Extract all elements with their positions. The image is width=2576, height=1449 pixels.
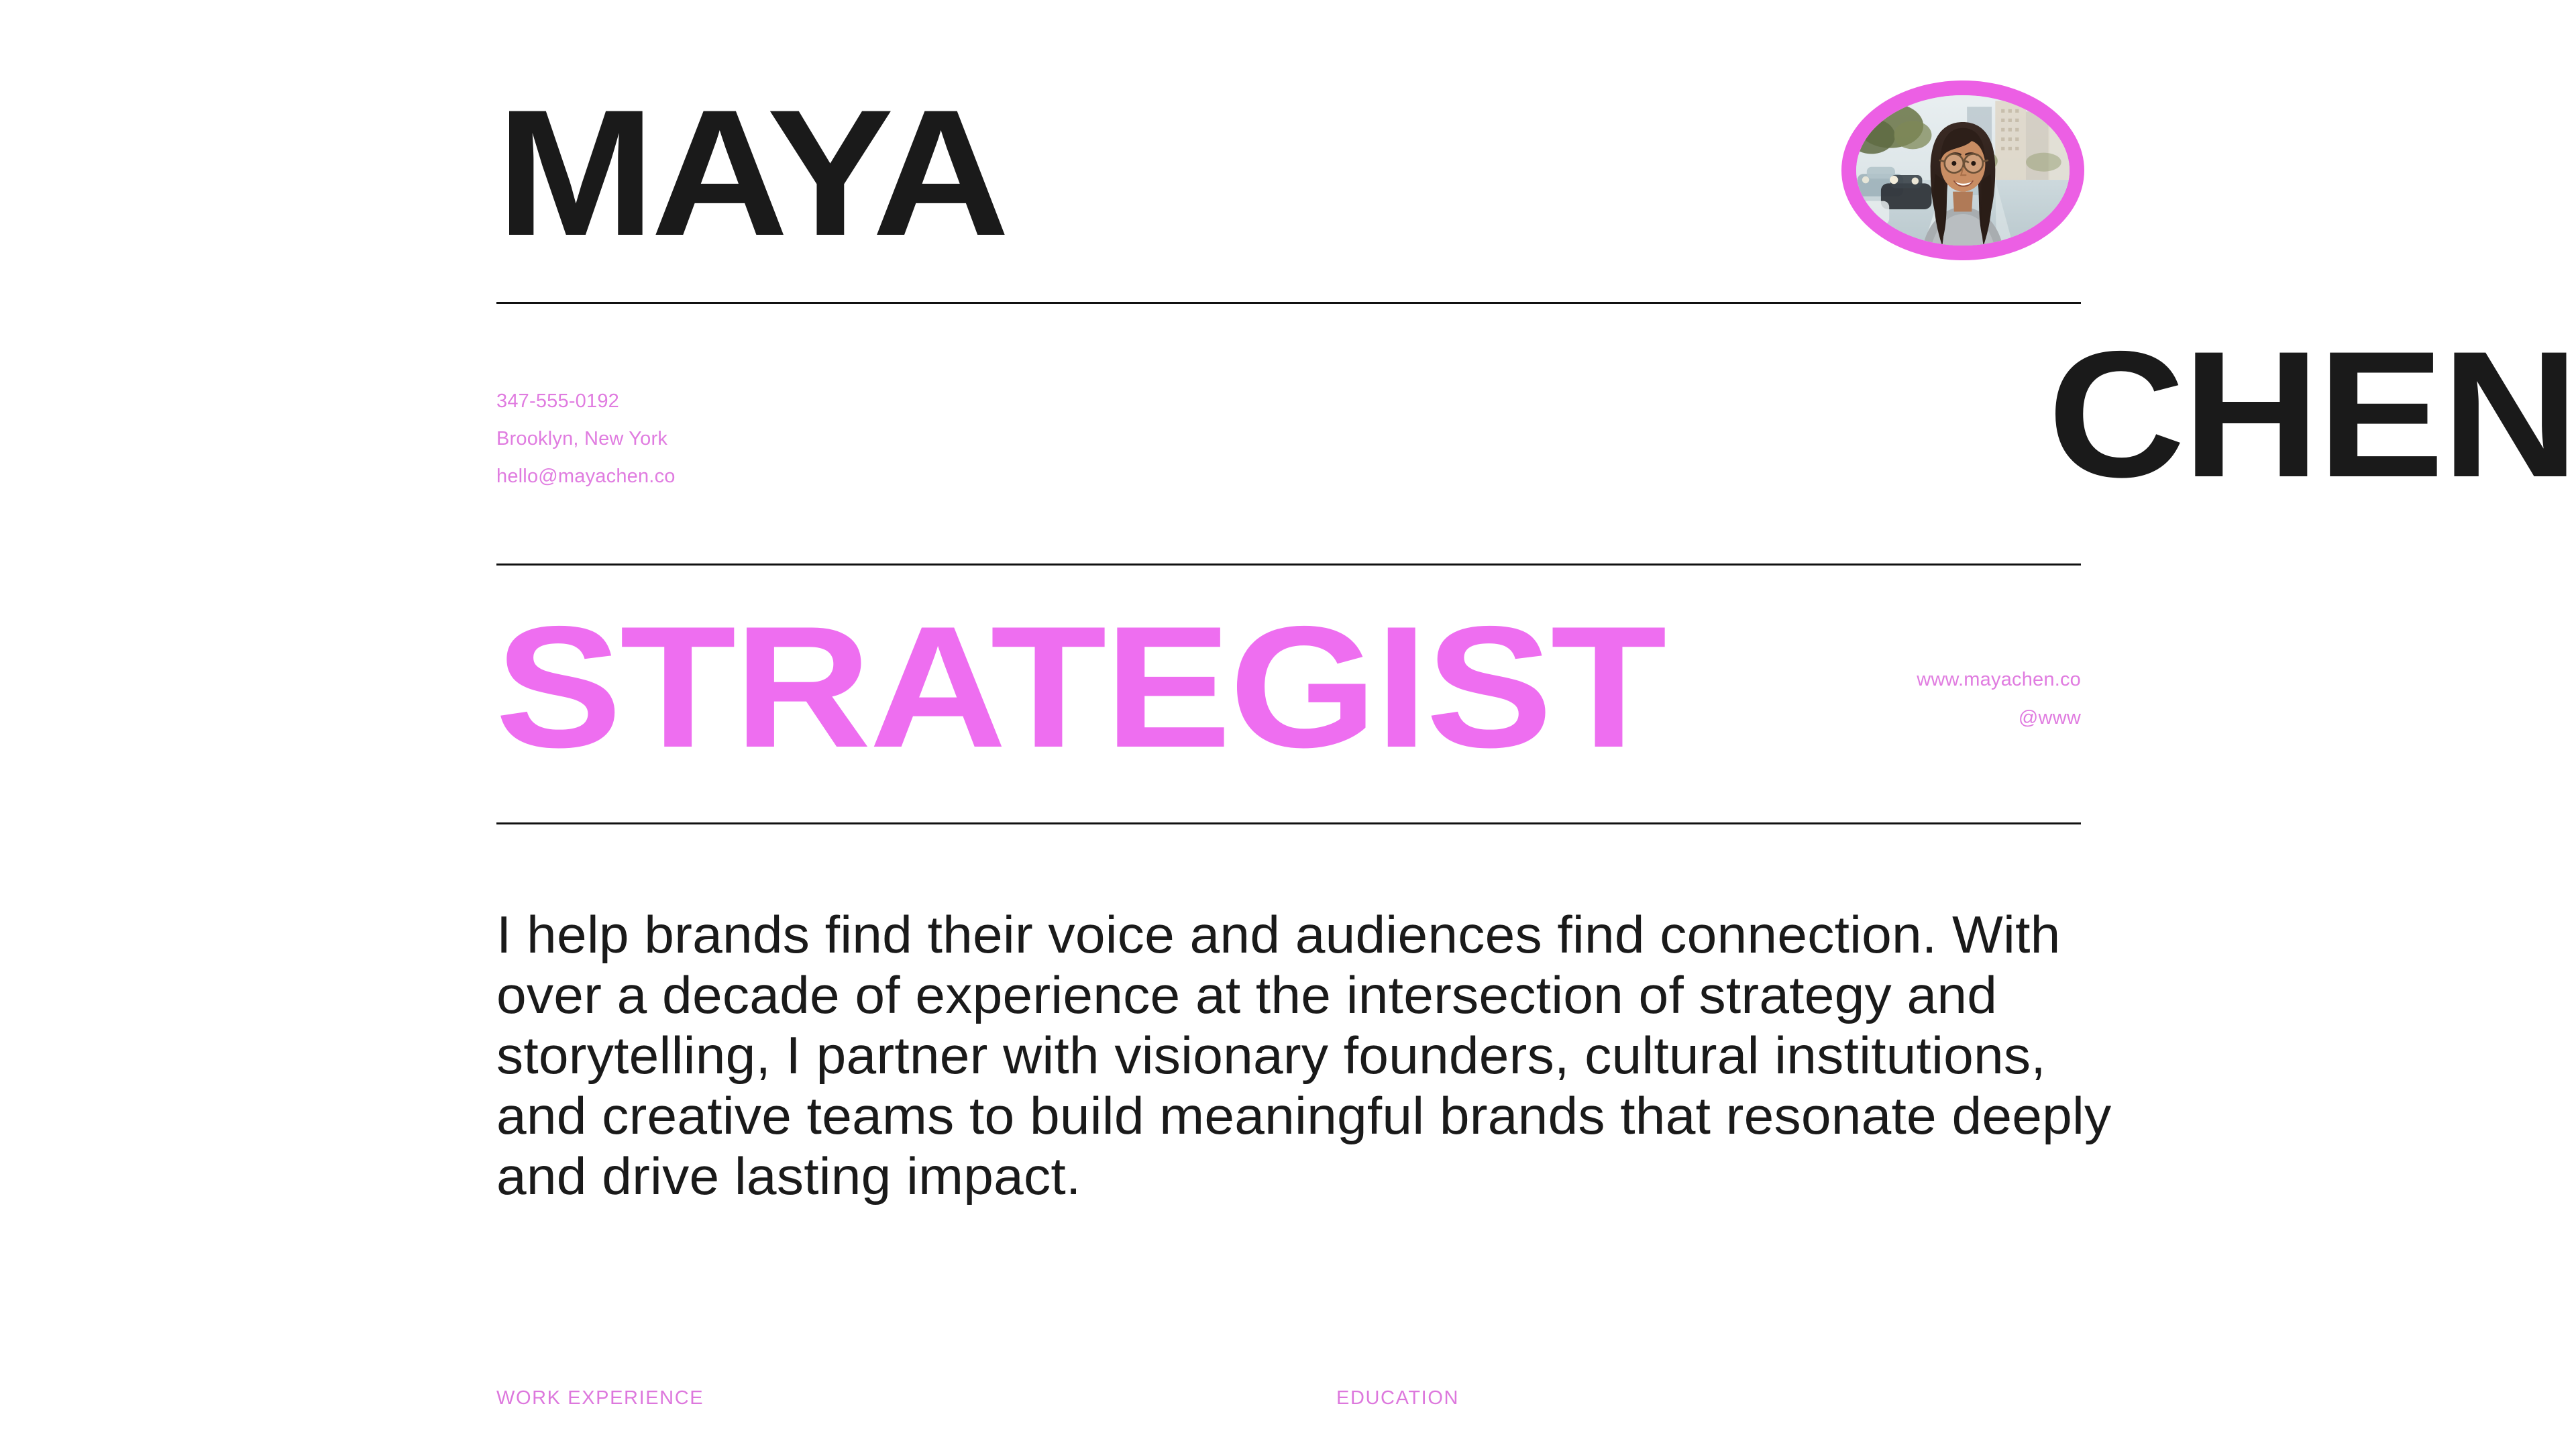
divider-rule-2: [496, 563, 2081, 566]
section-label-education: EDUCATION: [1336, 1387, 1459, 1409]
portrait-photo: [1841, 80, 2084, 260]
section-label-work-experience: WORK EXPERIENCE: [496, 1387, 704, 1409]
divider-rule-1: [496, 302, 2081, 304]
link-website[interactable]: www.mayachen.co: [496, 661, 2081, 699]
resume-page: MAYA: [0, 0, 2576, 1449]
links-block: www.mayachen.co @www: [496, 661, 2081, 737]
divider-rule-3: [496, 822, 2081, 824]
last-name-text: CHEN: [2047, 341, 2576, 488]
portrait-illustration: [1856, 95, 2070, 246]
last-name-wordmark: CHEN: [991, 341, 2576, 488]
summary-paragraph: I help brands find their voice and audie…: [496, 904, 2141, 1206]
link-social[interactable]: @www: [496, 699, 2081, 737]
header: MAYA: [496, 80, 2081, 282]
first-name-wordmark: MAYA: [496, 99, 1006, 247]
